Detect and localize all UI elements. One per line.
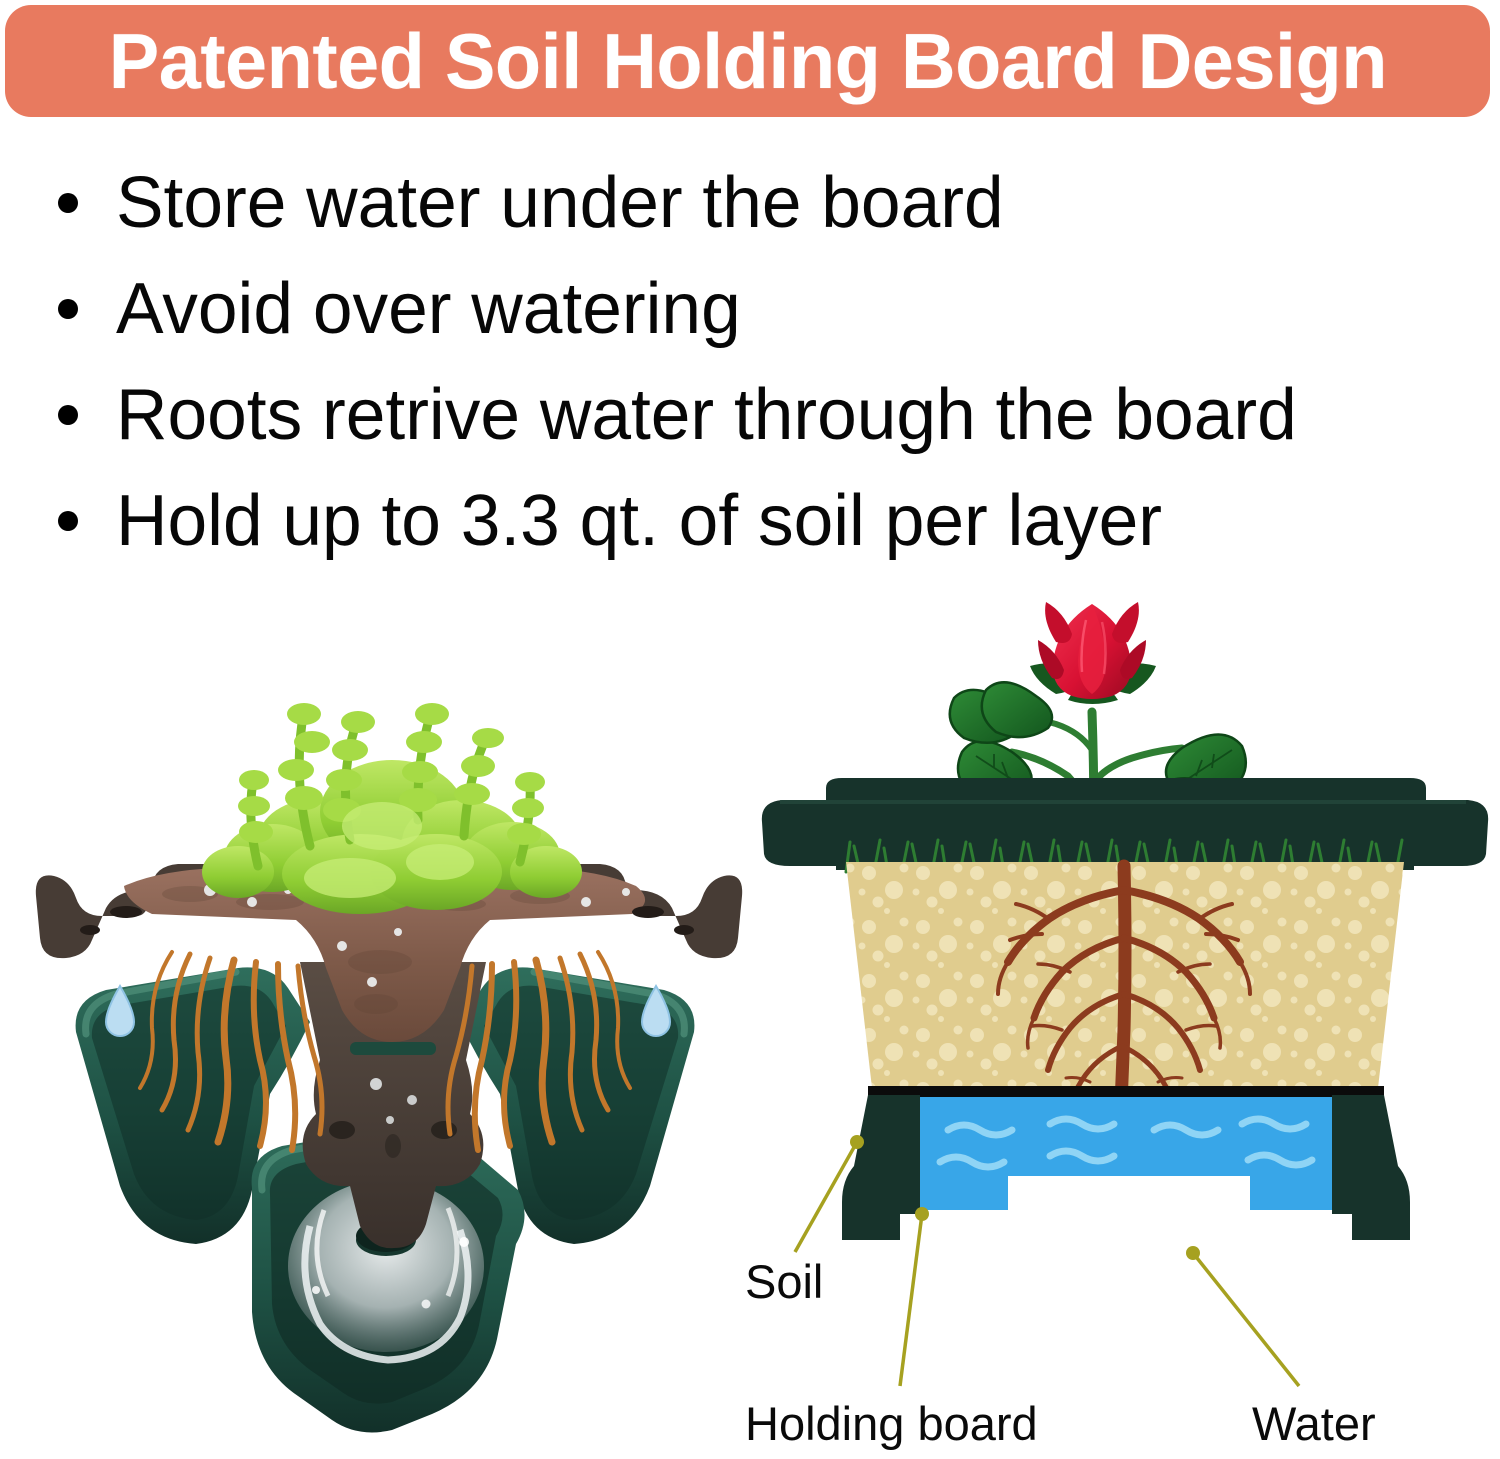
bullet-dot-icon <box>58 193 78 213</box>
list-item: Roots retrive water through the board <box>0 362 1500 468</box>
list-item: Hold up to 3.3 qt. of soil per layer <box>0 468 1500 574</box>
header-banner: Patented Soil Holding Board Design <box>5 5 1490 117</box>
planter-photo-svg <box>20 590 750 1459</box>
bullet-dot-icon <box>58 405 78 425</box>
callout-label-soil: Soil <box>745 1258 823 1305</box>
planter-cross-section-diagram <box>750 590 1500 1459</box>
list-item: Store water under the board <box>0 150 1500 256</box>
callout-label-holding-board: Holding board <box>745 1400 1038 1447</box>
plant-foliage <box>202 703 582 914</box>
bullet-label: Hold up to 3.3 qt. of soil per layer <box>116 485 1162 557</box>
list-item: Avoid over watering <box>0 256 1500 362</box>
page-title: Patented Soil Holding Board Design <box>108 22 1386 100</box>
stackable-planter-photo <box>20 590 750 1459</box>
infographic-page: Patented Soil Holding Board Design Store… <box>0 0 1500 1459</box>
bullet-dot-icon <box>58 299 78 319</box>
feature-bullet-list: Store water under the board Avoid over w… <box>0 150 1500 574</box>
bullet-label: Roots retrive water through the board <box>116 379 1297 451</box>
bullet-label: Store water under the board <box>116 167 1004 239</box>
bullet-label: Avoid over watering <box>116 273 741 345</box>
callout-label-water: Water <box>1252 1400 1376 1447</box>
figure-row <box>0 590 1500 1459</box>
holding-board-line <box>868 1086 1384 1097</box>
cross-section-svg <box>750 590 1500 1459</box>
bullet-dot-icon <box>58 511 78 531</box>
